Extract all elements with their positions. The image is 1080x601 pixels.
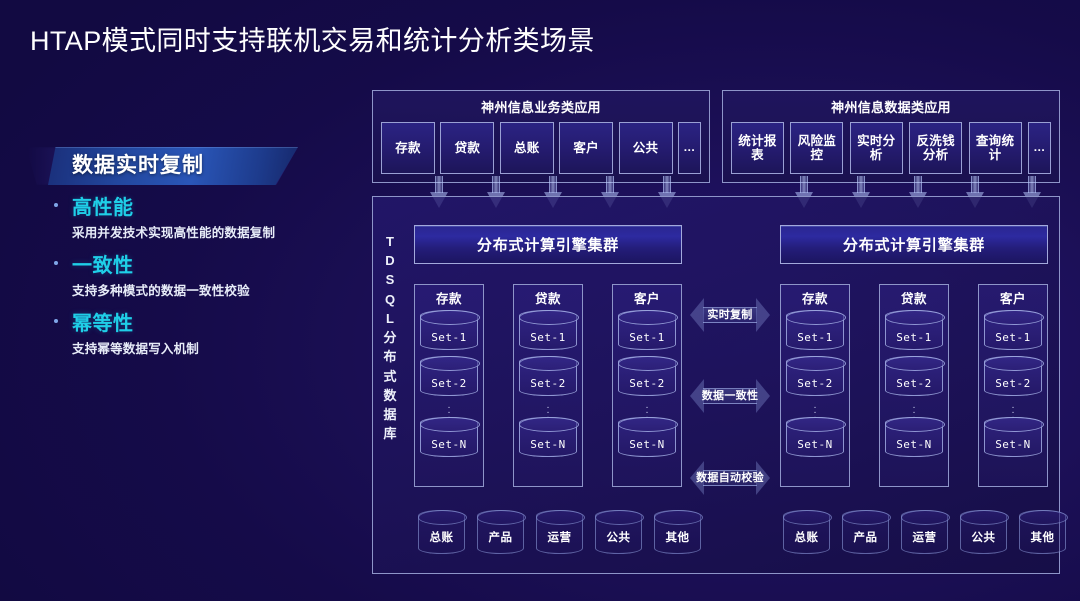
set-cylinder[interactable]: Set-1 [618,310,676,350]
bottom-cylinder-label: 产品 [478,523,523,553]
bottom-cylinder[interactable]: 总账 [783,510,830,554]
vertical-char: S [378,270,402,289]
bottom-cylinder-row-right: 总账 产品 运营 公共 其他 [783,510,1066,554]
bottom-cylinder-label: 公共 [596,523,641,553]
bottom-cylinder-label: 公共 [961,523,1006,553]
app-chip-more[interactable]: … [678,122,701,174]
set-label: Set-2 [886,370,942,397]
set-column-title: 存款 [415,288,483,307]
app-chip[interactable]: 总账 [500,122,554,174]
ellipsis-dots: ... [415,402,483,417]
app-chip-row: 统计报表 风险监控 实时分析 反洗钱分析 查询统计 … [723,116,1059,174]
set-label: Set-1 [886,324,942,351]
app-chip-more[interactable]: … [1028,122,1051,174]
bullet-description: 采用并发技术实现高性能的数据复制 [72,222,362,241]
bottom-cylinder[interactable]: 运营 [901,510,948,554]
slide-canvas: HTAP模式同时支持联机交易和统计分析类场景 数据实时复制 高性能 采用并发技术… [0,0,1080,601]
set-label: Set-1 [619,324,675,351]
sync-arrow-label: 数据自动校验 [690,461,770,495]
set-column: 客户 Set-1 Set-2 ... Set-N [612,284,682,487]
ellipsis-dots: ... [781,402,849,417]
set-cylinder[interactable]: Set-1 [519,310,577,350]
set-label: Set-2 [619,370,675,397]
app-chip[interactable]: 存款 [381,122,435,174]
business-app-panel: 神州信息业务类应用 存款 贷款 总账 客户 公共 … [372,90,710,183]
sync-arrow-data-consistency: 数据一致性 [690,379,770,413]
vertical-char: Q [378,290,402,309]
ellipsis-dots: ... [613,402,681,417]
sync-arrow-label: 实时复制 [690,298,770,332]
app-chip[interactable]: 实时分析 [850,122,903,174]
bottom-cylinder-label: 运营 [537,523,582,553]
set-column: 客户 Set-1 Set-2 ... Set-N [978,284,1048,487]
set-cylinder[interactable]: Set-N [519,417,577,457]
bottom-cylinder[interactable]: 运营 [536,510,583,554]
app-chip[interactable]: 风险监控 [790,122,843,174]
ellipsis-dots: ... [880,402,948,417]
list-item: 幂等性 支持幂等数据写入机制 [52,308,362,357]
set-label: Set-N [985,431,1041,458]
set-column: 存款 Set-1 Set-2 ... Set-N [780,284,850,487]
tdsql-vertical-label: T D S Q L 分 布 式 数 据 库 [378,232,402,444]
set-cylinder[interactable]: Set-2 [618,356,676,396]
compute-engine-bar[interactable]: 分布式计算引擎集群 [414,225,682,264]
set-label: Set-N [421,431,477,458]
vertical-char: 库 [378,424,402,443]
set-cylinder[interactable]: Set-2 [885,356,943,396]
set-cylinder[interactable]: Set-N [984,417,1042,457]
set-columns: 存款 Set-1 Set-2 ... Set-N 贷款 Set-1 Set-2 … [414,284,682,487]
compute-engine-bar[interactable]: 分布式计算引擎集群 [780,225,1048,264]
set-cylinder[interactable]: Set-N [885,417,943,457]
bottom-cylinder[interactable]: 公共 [595,510,642,554]
app-chip[interactable]: 贷款 [440,122,494,174]
vertical-char: 式 [378,367,402,386]
ellipsis-dots: ... [514,402,582,417]
set-cylinder[interactable]: Set-N [618,417,676,457]
sync-arrow-realtime-replication: 实时复制 [690,298,770,332]
app-chip[interactable]: 公共 [619,122,673,174]
set-label: Set-N [787,431,843,458]
bottom-cylinder[interactable]: 产品 [842,510,889,554]
bottom-cylinder[interactable]: 总账 [418,510,465,554]
bullet-description: 支持多种模式的数据一致性校验 [72,280,362,299]
set-label: Set-N [886,431,942,458]
page-title: HTAP模式同时支持联机交易和统计分析类场景 [30,19,595,58]
app-chip[interactable]: 反洗钱分析 [909,122,962,174]
set-column-title: 贷款 [514,288,582,307]
app-chip[interactable]: 统计报表 [731,122,784,174]
app-chip[interactable]: 查询统计 [969,122,1022,174]
bottom-cylinder[interactable]: 公共 [960,510,1007,554]
bottom-cylinder[interactable]: 其他 [1019,510,1066,554]
set-label: Set-1 [520,324,576,351]
set-cylinder[interactable]: Set-1 [885,310,943,350]
app-panel-title: 神州信息数据类应用 [723,97,1059,116]
set-cylinder[interactable]: Set-N [786,417,844,457]
vertical-char: 数 [378,386,402,405]
app-chip[interactable]: 客户 [559,122,613,174]
bullet-dot-icon [54,261,58,265]
bullet-head: 高性能 [52,192,362,218]
bottom-cylinder-label: 运营 [902,523,947,553]
set-column: 存款 Set-1 Set-2 ... Set-N [414,284,484,487]
set-column-title: 贷款 [880,288,948,307]
app-panel-title: 神州信息业务类应用 [373,97,709,116]
set-label: Set-2 [985,370,1041,397]
set-cylinder[interactable]: Set-N [420,417,478,457]
bottom-cylinder-label: 总账 [784,523,829,553]
bullet-dot-icon [54,203,58,207]
bullet-head: 一致性 [52,250,362,276]
set-column-title: 存款 [781,288,849,307]
bottom-cylinder[interactable]: 其他 [654,510,701,554]
set-cylinder[interactable]: Set-1 [984,310,1042,350]
vertical-char: 分 [378,328,402,347]
bottom-cylinder-label: 其他 [655,523,700,553]
set-label: Set-1 [985,324,1041,351]
vertical-char: T [378,232,402,251]
set-label: Set-2 [421,370,477,397]
ellipsis-dots: ... [979,402,1047,417]
set-cylinder[interactable]: Set-2 [984,356,1042,396]
set-label: Set-1 [787,324,843,351]
bullet-term: 高性能 [72,191,134,220]
set-label: Set-N [619,431,675,458]
set-column: 贷款 Set-1 Set-2 ... Set-N [879,284,949,487]
vertical-char: 据 [378,405,402,424]
set-cylinder[interactable]: Set-2 [420,356,478,396]
vertical-char: 布 [378,347,402,366]
sync-arrow-auto-verification: 数据自动校验 [690,461,770,495]
set-cylinder[interactable]: Set-2 [786,356,844,396]
set-columns: 存款 Set-1 Set-2 ... Set-N 贷款 Set-1 Set-2 … [780,284,1048,487]
set-label: Set-N [520,431,576,458]
set-label: Set-2 [787,370,843,397]
cluster-right: 分布式计算引擎集群 存款 Set-1 Set-2 ... Set-N 贷款 Se… [780,225,1048,487]
bottom-cylinder-label: 产品 [843,523,888,553]
list-item: 高性能 采用并发技术实现高性能的数据复制 [52,192,362,241]
feature-bullet-list: 高性能 采用并发技术实现高性能的数据复制 一致性 支持多种模式的数据一致性校验 … [52,192,362,366]
bullet-term: 幂等性 [72,307,134,336]
bullet-term: 一致性 [72,249,134,278]
set-label: Set-1 [421,324,477,351]
bottom-cylinder-row-left: 总账 产品 运营 公共 其他 [418,510,701,554]
data-app-panel: 神州信息数据类应用 统计报表 风险监控 实时分析 反洗钱分析 查询统计 … [722,90,1060,183]
vertical-char: D [378,251,402,270]
sync-arrow-label: 数据一致性 [690,379,770,413]
list-item: 一致性 支持多种模式的数据一致性校验 [52,250,362,299]
cluster-left: 分布式计算引擎集群 存款 Set-1 Set-2 ... Set-N 贷款 Se… [414,225,682,487]
bullet-description: 支持幂等数据写入机制 [72,338,362,357]
set-column-title: 客户 [613,288,681,307]
set-cylinder[interactable]: Set-1 [786,310,844,350]
vertical-char: L [378,309,402,328]
bullet-head: 幂等性 [52,308,362,334]
ribbon-title-text: 数据实时复制 [72,148,272,184]
bottom-cylinder-label: 其他 [1020,523,1065,553]
set-label: Set-2 [520,370,576,397]
set-column-title: 客户 [979,288,1047,307]
set-cylinder[interactable]: Set-2 [519,356,577,396]
app-chip-row: 存款 贷款 总账 客户 公共 … [373,116,709,174]
bottom-cylinder-label: 总账 [419,523,464,553]
bullet-dot-icon [54,319,58,323]
bottom-cylinder[interactable]: 产品 [477,510,524,554]
set-column: 贷款 Set-1 Set-2 ... Set-N [513,284,583,487]
set-cylinder[interactable]: Set-1 [420,310,478,350]
